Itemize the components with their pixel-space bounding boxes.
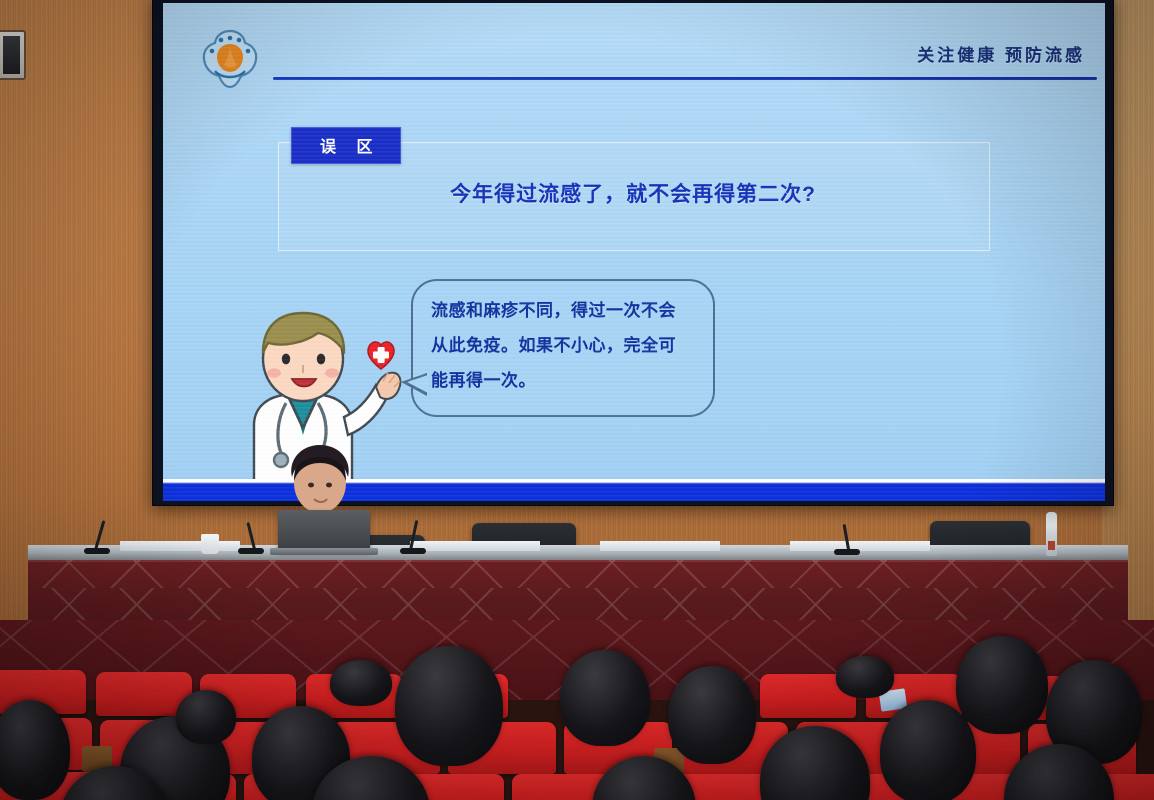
microphone-base — [84, 548, 110, 554]
auditorium-photo: 关注健康 预防流感 误 区 今年得过流感了，就不会再得第二次? 流感和麻疹不同，… — [0, 0, 1154, 800]
microphone-base — [834, 549, 860, 555]
audience-head — [956, 636, 1048, 734]
microphone-base — [238, 548, 264, 554]
laptop — [278, 510, 370, 552]
audience-head — [560, 650, 650, 746]
laptop-base — [270, 548, 378, 555]
audience-head — [880, 700, 976, 800]
audience-head — [395, 646, 503, 766]
paper-cup — [201, 534, 219, 554]
audience-head — [330, 660, 392, 706]
hospital-emblem-logo — [197, 27, 263, 93]
projection-screen-bezel: 关注健康 预防流感 误 区 今年得过流感了，就不会再得第二次? 流感和麻疹不同，… — [152, 0, 1114, 506]
audience-head — [836, 656, 894, 698]
slide-header-rule — [273, 77, 1097, 80]
audience-head — [176, 690, 236, 744]
slide-question-text: 今年得过流感了，就不会再得第二次? — [278, 178, 988, 208]
water-bottle — [1046, 512, 1057, 556]
desk-papers — [410, 541, 540, 551]
audience-head — [668, 666, 756, 764]
speech-bubble-text: 流感和麻疹不同，得过一次不会从此免疫。如果不小心，完全可能再得一次。 — [431, 293, 693, 398]
projection-screen: 关注健康 预防流感 误 区 今年得过流感了，就不会再得第二次? 流感和麻疹不同，… — [163, 3, 1105, 501]
slide-header-text: 关注健康 预防流感 — [917, 41, 1085, 66]
wall-fixture-inner — [3, 36, 20, 74]
desk-papers — [600, 541, 720, 551]
desk-papers — [790, 541, 930, 551]
red-heart-with-medical-cross — [368, 342, 394, 369]
desk-papers — [120, 541, 240, 551]
microphone-base — [400, 548, 426, 554]
wall-fixture — [0, 30, 26, 80]
misconception-badge: 误 区 — [291, 127, 401, 164]
